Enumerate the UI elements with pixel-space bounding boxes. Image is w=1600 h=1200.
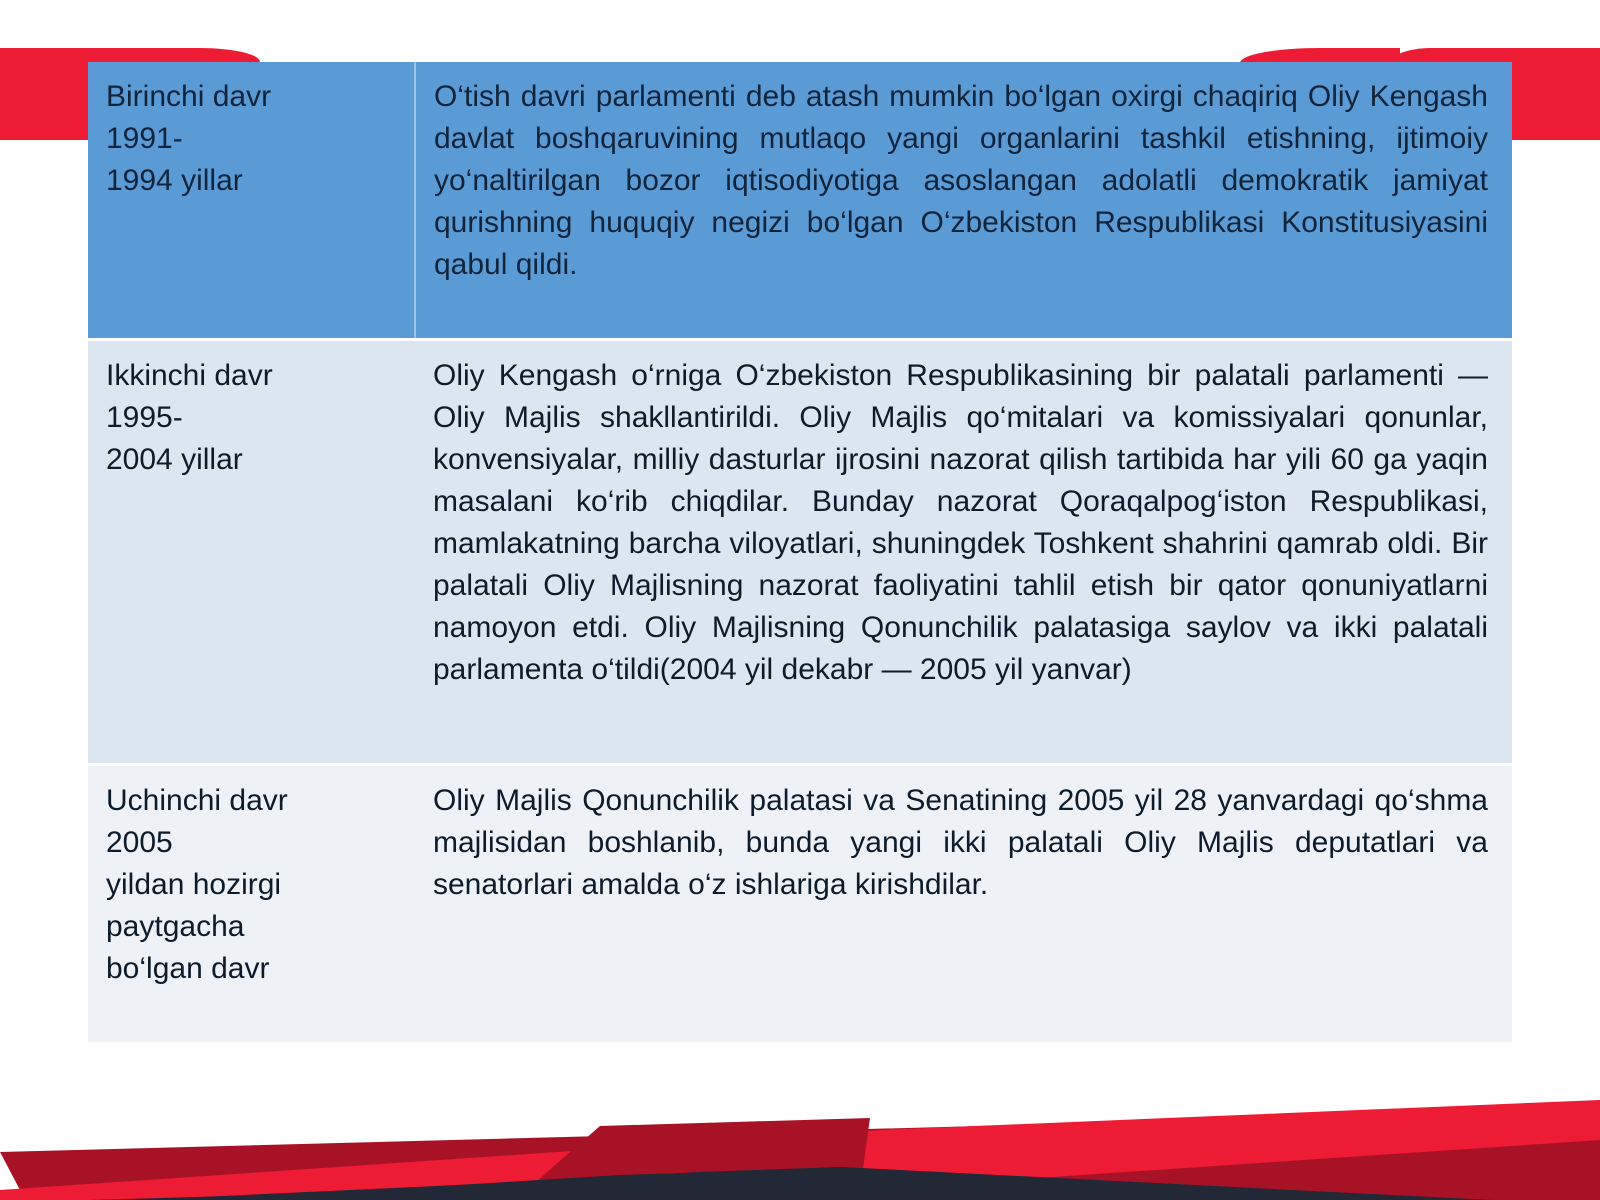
period-label-line: 1994 yillar xyxy=(106,160,398,202)
slide-canvas: Birinchi davr 1991- 1994 yillar O‘tish d… xyxy=(0,0,1600,1200)
period-body-cell-3: Oliy Majlis Qonunchilik palatasi va Sena… xyxy=(415,765,1512,1042)
period-label-line: Uchinchi davr xyxy=(106,780,399,822)
navy-mountain-solid xyxy=(90,1167,1600,1200)
periods-table-container: Birinchi davr 1991- 1994 yillar O‘tish d… xyxy=(88,62,1512,1042)
dark-red-right-wedge xyxy=(860,1140,1600,1200)
period-label-line: paytgacha xyxy=(106,906,399,948)
period-body-text: Oliy Majlis Qonunchilik palatasi va Sena… xyxy=(433,780,1488,906)
period-label-line: yildan hozirgi xyxy=(106,864,399,906)
navy-mountain-body xyxy=(95,1167,1600,1200)
navy-base-fill xyxy=(90,1168,1600,1200)
period-body-cell-1: O‘tish davri parlamenti deb atash mumkin… xyxy=(415,62,1512,339)
navy-base-shape xyxy=(100,1168,1600,1200)
period-body-text: O‘tish davri parlamenti deb atash mumkin… xyxy=(434,76,1488,286)
red-wedge-accent xyxy=(515,1118,870,1200)
period-label-line: Birinchi davr xyxy=(106,76,398,118)
period-body-text: Oliy Kengash o‘rniga O‘zbekiston Respubl… xyxy=(433,355,1488,691)
period-label-line: bo‘lgan davr xyxy=(106,948,399,990)
table-row: Ikkinchi davr 1995- 2004 yillar Oliy Ken… xyxy=(88,339,1512,764)
period-label-cell-3: Uchinchi davr 2005 yildan hozirgi paytga… xyxy=(88,765,415,1042)
red-diagonal-band xyxy=(0,1100,1600,1200)
period-label-cell-1: Birinchi davr 1991- 1994 yillar xyxy=(88,62,415,339)
period-label-line: 2004 yillar xyxy=(106,439,399,481)
period-label-line: 1991- xyxy=(106,118,398,160)
table-row: Uchinchi davr 2005 yildan hozirgi paytga… xyxy=(88,765,1512,1042)
period-label-line: 2005 xyxy=(106,822,399,864)
navy-mountain xyxy=(95,1167,1600,1200)
dark-red-diagonal-stripe xyxy=(0,1112,1600,1190)
period-label-cell-2: Ikkinchi davr 1995- 2004 yillar xyxy=(88,339,415,764)
period-label-line: 1995- xyxy=(106,397,399,439)
table-row: Birinchi davr 1991- 1994 yillar O‘tish d… xyxy=(88,62,1512,339)
period-label-line: Ikkinchi davr xyxy=(106,355,399,397)
navy-base-block xyxy=(95,1168,1600,1200)
top-right-red-tail xyxy=(1240,48,1400,63)
periods-table: Birinchi davr 1991- 1994 yillar O‘tish d… xyxy=(88,62,1512,1042)
period-body-cell-2: Oliy Kengash o‘rniga O‘zbekiston Respubl… xyxy=(415,339,1512,764)
